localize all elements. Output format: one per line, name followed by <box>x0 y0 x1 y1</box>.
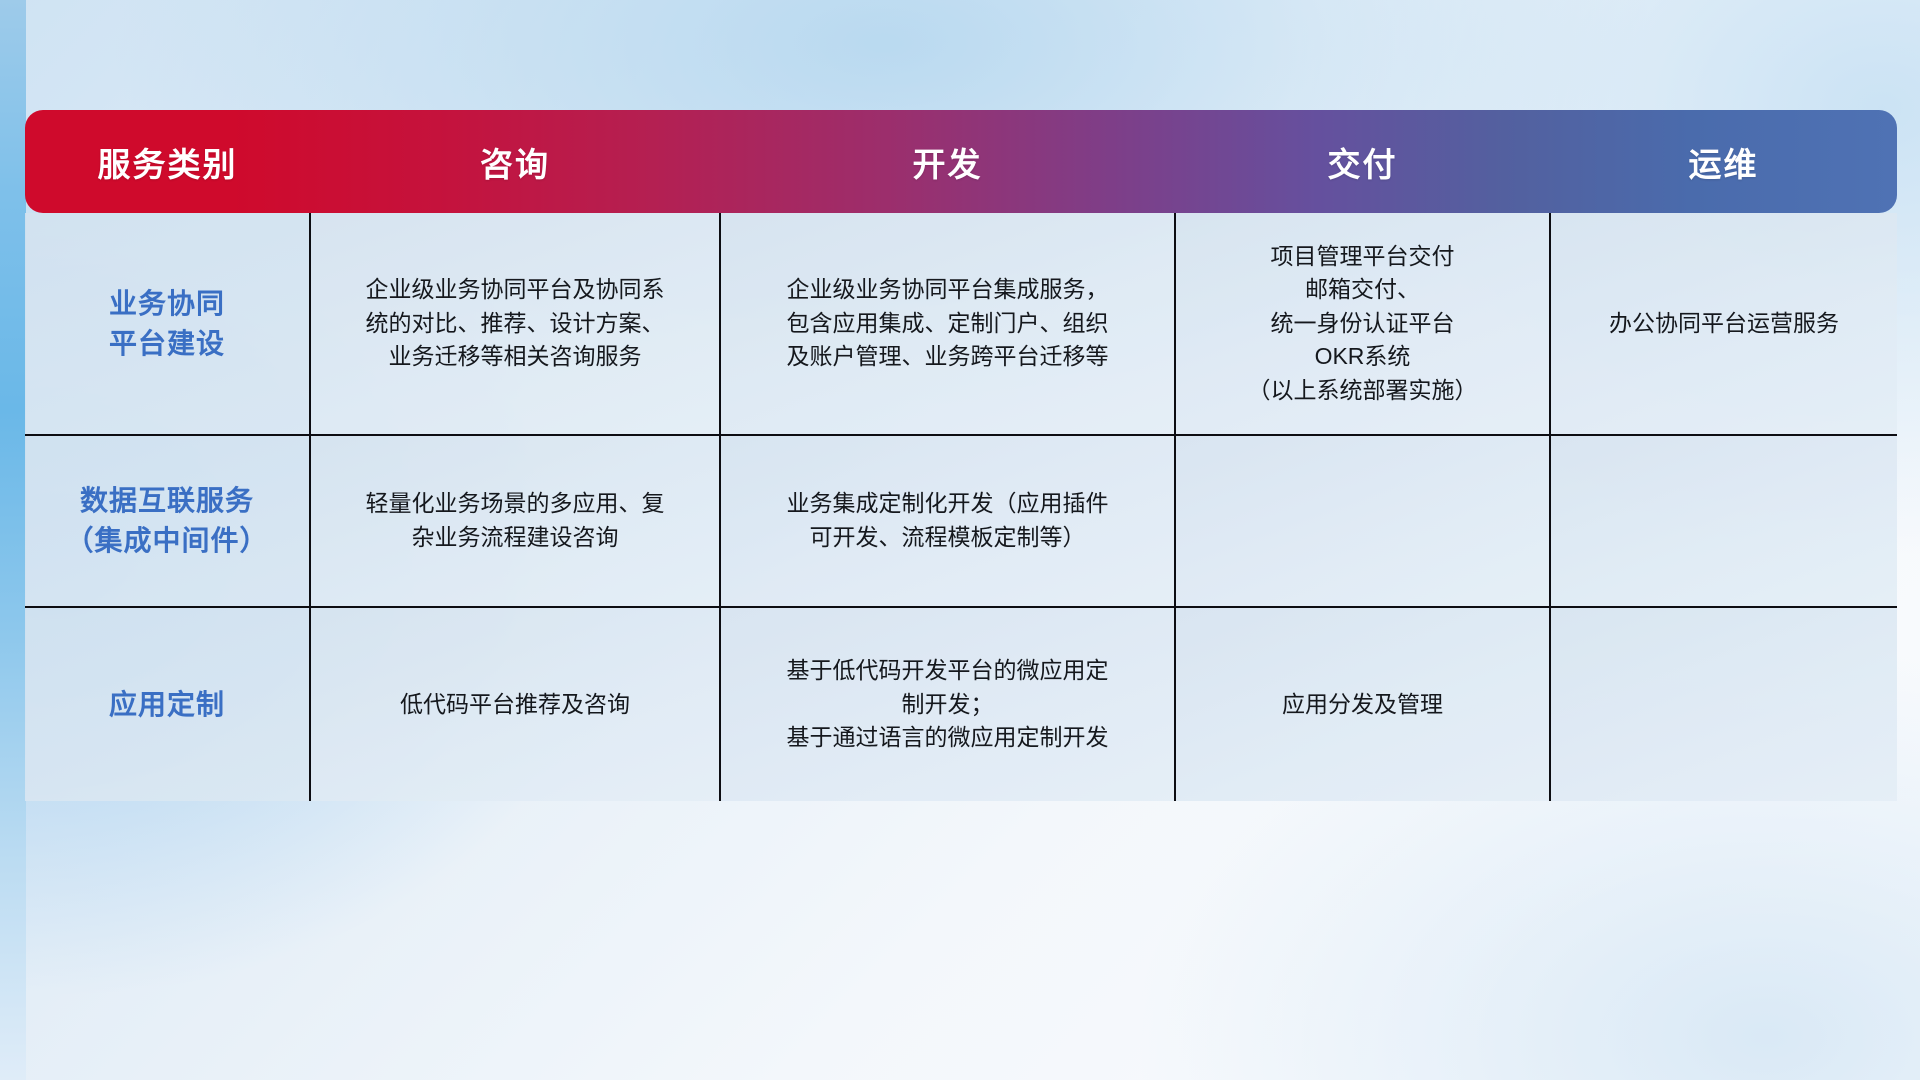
row-label-business-collaboration: 业务协同 平台建设 <box>25 213 310 435</box>
cell-text: 业务协同 平台建设 <box>41 284 293 364</box>
table-row: 业务协同 平台建设 企业级业务协同平台及协同系 统的对比、推荐、设计方案、 业务… <box>25 213 1897 435</box>
row-label-app-customization: 应用定制 <box>25 607 310 801</box>
cell-development-r1: 企业级业务协同平台集成服务， 包含应用集成、定制门户、组织 及账户管理、业务跨平… <box>720 213 1175 435</box>
cell-operations-r3 <box>1550 607 1897 801</box>
cell-text: 基于低代码开发平台的微应用定 制开发； 基于通过语言的微应用定制开发 <box>737 654 1158 755</box>
cell-text: 应用定制 <box>41 685 293 725</box>
cell-text: 企业级业务协同平台集成服务， 包含应用集成、定制门户、组织 及账户管理、业务跨平… <box>737 273 1158 374</box>
cell-delivery-r3: 应用分发及管理 <box>1175 607 1550 801</box>
cell-text: 应用分发及管理 <box>1192 688 1533 722</box>
column-header-delivery: 交付 <box>1175 110 1550 213</box>
row-label-data-interconnect: 数据互联服务 （集成中间件） <box>25 435 310 607</box>
cell-operations-r1: 办公协同平台运营服务 <box>1550 213 1897 435</box>
cell-consulting-r1: 企业级业务协同平台及协同系 统的对比、推荐、设计方案、 业务迁移等相关咨询服务 <box>310 213 720 435</box>
cell-development-r2: 业务集成定制化开发（应用插件 可开发、流程模板定制等） <box>720 435 1175 607</box>
table-row: 数据互联服务 （集成中间件） 轻量化业务场景的多应用、复 杂业务流程建设咨询 业… <box>25 435 1897 607</box>
table-row: 应用定制 低代码平台推荐及咨询 基于低代码开发平台的微应用定 制开发； 基于通过… <box>25 607 1897 801</box>
cell-text: 数据互联服务 （集成中间件） <box>41 481 293 561</box>
cell-operations-r2 <box>1550 435 1897 607</box>
column-header-consulting: 咨询 <box>310 110 720 213</box>
cell-consulting-r3: 低代码平台推荐及咨询 <box>310 607 720 801</box>
column-header-operations: 运维 <box>1550 110 1897 213</box>
column-header-development: 开发 <box>720 110 1175 213</box>
cell-consulting-r2: 轻量化业务场景的多应用、复 杂业务流程建设咨询 <box>310 435 720 607</box>
page-accent-stripe <box>0 0 26 1080</box>
cell-development-r3: 基于低代码开发平台的微应用定 制开发； 基于通过语言的微应用定制开发 <box>720 607 1175 801</box>
cell-delivery-r2 <box>1175 435 1550 607</box>
service-matrix-table-wrapper: 服务类别 咨询 开发 交付 运维 业务协同 平台建设 企业级业务协同平台及协同系… <box>25 110 1897 963</box>
table-header-row: 服务类别 咨询 开发 交付 运维 <box>25 110 1897 213</box>
cell-text: 轻量化业务场景的多应用、复 杂业务流程建设咨询 <box>327 487 703 554</box>
cell-text: 低代码平台推荐及咨询 <box>327 688 703 722</box>
column-header-category: 服务类别 <box>25 110 310 213</box>
table-body: 业务协同 平台建设 企业级业务协同平台及协同系 统的对比、推荐、设计方案、 业务… <box>25 213 1897 801</box>
cell-delivery-r1: 项目管理平台交付 邮箱交付、 统一身份认证平台 OKR系统 （以上系统部署实施） <box>1175 213 1550 435</box>
service-matrix-table: 业务协同 平台建设 企业级业务协同平台及协同系 统的对比、推荐、设计方案、 业务… <box>25 110 1897 801</box>
cell-text: 办公协同平台运营服务 <box>1567 307 1881 341</box>
cell-text: 企业级业务协同平台及协同系 统的对比、推荐、设计方案、 业务迁移等相关咨询服务 <box>327 273 703 374</box>
cell-text: 项目管理平台交付 邮箱交付、 统一身份认证平台 OKR系统 （以上系统部署实施） <box>1192 240 1533 408</box>
cell-text: 业务集成定制化开发（应用插件 可开发、流程模板定制等） <box>737 487 1158 554</box>
